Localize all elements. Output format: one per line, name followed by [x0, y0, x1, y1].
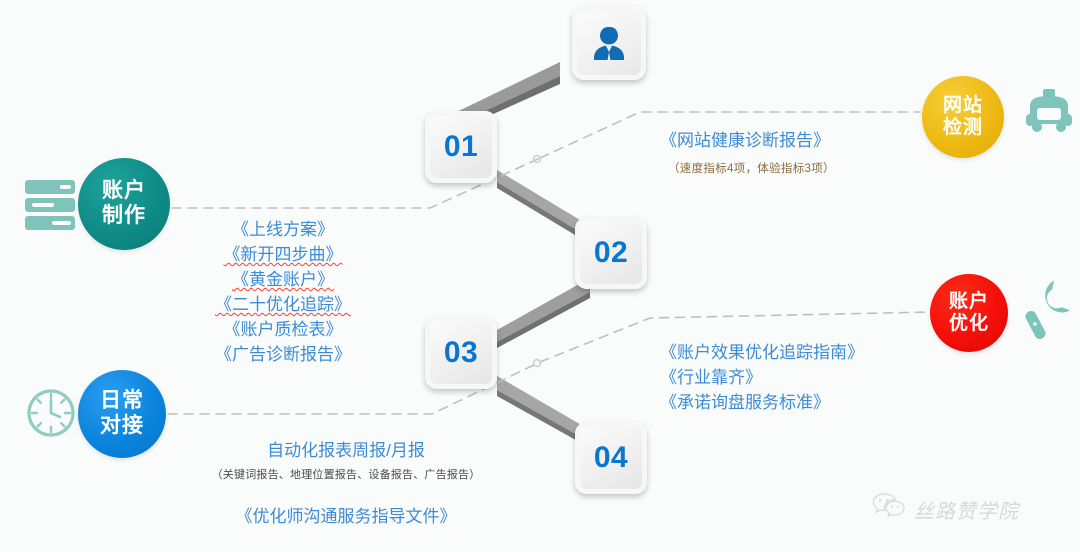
person-avatar-icon	[572, 6, 646, 80]
wechat-icon	[872, 492, 906, 526]
node-account-optimize-line1: 账户	[949, 291, 989, 313]
account-build-doc-list: 《上线方案》 《新开四步曲》 《黄金账户》 《二十优化追踪》 《账户质检表》 《…	[192, 217, 374, 367]
node-account-build-line2: 制作	[102, 204, 146, 229]
node-daily-liaison-line2: 对接	[100, 414, 144, 439]
dash-endpoints	[534, 156, 541, 367]
doc-item[interactable]: 《行业靠齐》	[660, 365, 940, 390]
doc-item[interactable]: 《新开四步曲》	[192, 242, 374, 267]
step-tile-02[interactable]: 02	[575, 217, 647, 289]
account-optimize-doc-list: 《账户效果优化追踪指南》 《行业靠齐》 《承诺询盘服务标准》	[660, 340, 940, 415]
daily-report-headline[interactable]: 自动化报表周报/月报	[196, 436, 496, 461]
connector-lines	[0, 0, 1080, 552]
step-tile-01[interactable]: 01	[425, 111, 497, 183]
doc-item[interactable]: 《账户质检表》	[192, 317, 374, 342]
watermark-text: 丝路赞学院	[914, 495, 1019, 524]
wrench-icon	[1020, 280, 1076, 347]
step-tile-03[interactable]: 03	[425, 317, 497, 389]
site-health-report-note: （速度指标4项，体验指标3项）	[668, 160, 930, 176]
doc-item[interactable]: 《黄金账户》	[192, 267, 374, 292]
doc-item[interactable]: 《承诺询盘服务标准》	[660, 390, 940, 415]
car-icon	[1020, 86, 1078, 145]
site-check-doc-block: 《网站健康诊断报告》 （速度指标4项，体验指标3项）	[660, 128, 930, 176]
watermark: 丝路赞学院	[872, 492, 1019, 526]
diagram-canvas: 账户 制作 日常 对接 网站 检测 账户 优化	[0, 0, 1080, 552]
step-number-03: 03	[444, 336, 478, 370]
doc-item[interactable]: 《二十优化追踪》	[192, 292, 374, 317]
node-site-check-line1: 网站	[943, 95, 983, 117]
node-daily-liaison-line1: 日常	[100, 389, 144, 414]
doc-item[interactable]: 《上线方案》	[192, 217, 374, 242]
step-number-02: 02	[594, 236, 628, 270]
step-number-01: 01	[444, 130, 478, 164]
step-number-04: 04	[594, 441, 628, 475]
daily-report-note: （关键词报告、地理位置报告、设备报告、广告报告）	[196, 466, 496, 482]
site-health-report-doc[interactable]: 《网站健康诊断报告》	[660, 128, 930, 153]
node-account-build[interactable]: 账户 制作	[78, 158, 170, 250]
doc-item[interactable]: 《账户效果优化追踪指南》	[660, 340, 940, 365]
optimizer-guide-doc[interactable]: 《优化师沟通服务指导文件》	[196, 504, 496, 529]
server-icon	[22, 176, 78, 239]
doc-item[interactable]: 《广告诊断报告》	[192, 342, 374, 367]
step-tile-04[interactable]: 04	[575, 422, 647, 494]
node-site-check-line2: 检测	[943, 117, 983, 139]
daily-liaison-doc-list: 自动化报表周报/月报 （关键词报告、地理位置报告、设备报告、广告报告） 《优化师…	[196, 436, 496, 529]
node-account-optimize-line2: 优化	[949, 313, 989, 335]
node-site-check[interactable]: 网站 检测	[922, 76, 1004, 158]
node-account-build-line1: 账户	[102, 179, 146, 204]
node-daily-liaison[interactable]: 日常 对接	[78, 370, 166, 458]
node-account-optimize[interactable]: 账户 优化	[930, 274, 1008, 352]
clock-icon	[22, 384, 80, 447]
